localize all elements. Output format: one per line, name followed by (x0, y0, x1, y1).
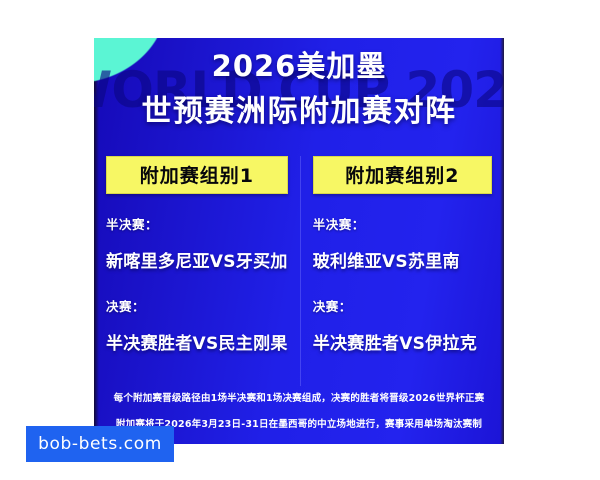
playoff-group-2: 附加赛组别2 半决赛： 玻利维亚VS苏里南 决赛： 半决赛胜者VS伊拉克 (300, 156, 504, 386)
page-title-secondary: 世预赛洲际附加赛对阵 (94, 90, 504, 134)
group-1-final-label: 决赛： (106, 296, 288, 315)
site-watermark-chip: bob-bets.com (26, 426, 174, 462)
group-2-header: 附加赛组别2 (313, 156, 492, 194)
group-2-semifinal-label: 半决赛： (313, 214, 492, 233)
group-1-semifinal-match: 新喀里多尼亚VS牙买加 (106, 247, 288, 272)
tournament-poster: WORLD CUP 2026 2026美加墨 世预赛洲际附加赛对阵 附加赛组别1… (94, 38, 504, 444)
footer-note-line-1: 每个附加赛晋级路径由1场半决赛和1场决赛组成，决赛的胜者将晋级2026世界杯正赛 (94, 386, 504, 412)
playoff-group-1: 附加赛组别1 半决赛： 新喀里多尼亚VS牙买加 决赛： 半决赛胜者VS民主刚果 (94, 156, 300, 386)
group-1-semifinal-label: 半决赛： (106, 214, 288, 233)
page-title-primary: 2026美加墨 (94, 46, 504, 86)
group-1-final-match: 半决赛胜者VS民主刚果 (106, 329, 288, 354)
site-watermark-label: bob-bets.com (38, 434, 162, 454)
playoff-groups-container: 附加赛组别1 半决赛： 新喀里多尼亚VS牙买加 决赛： 半决赛胜者VS民主刚果 … (94, 156, 504, 386)
group-2-semifinal-match: 玻利维亚VS苏里南 (313, 247, 492, 272)
group-2-final-match: 半决赛胜者VS伊拉克 (313, 329, 492, 354)
poster-title-block: 2026美加墨 世预赛洲际附加赛对阵 (94, 46, 504, 134)
group-2-final-label: 决赛： (313, 296, 492, 315)
group-1-header: 附加赛组别1 (106, 156, 288, 194)
